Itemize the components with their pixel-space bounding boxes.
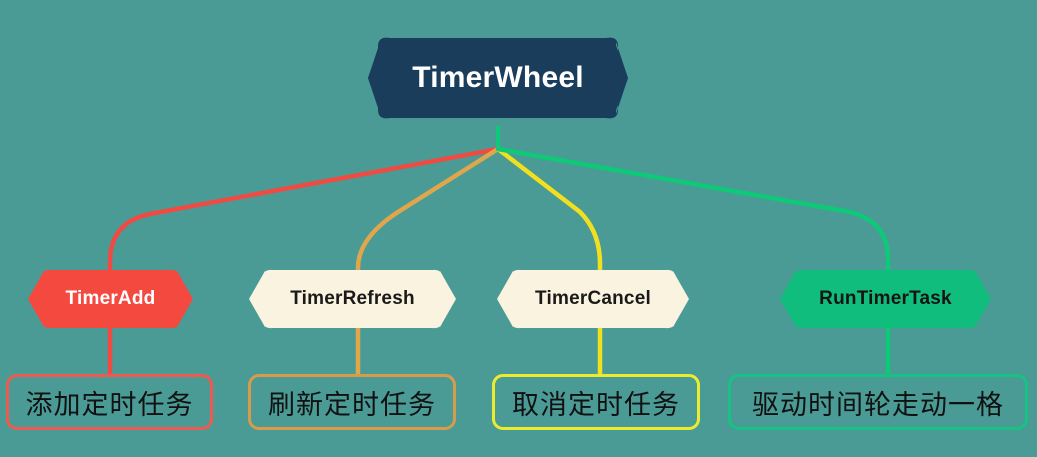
leaf-runtimertask-text: 驱动时间轮走动一格 [752,383,1004,422]
node-root[interactable]: TimerWheel [368,28,628,128]
leaf-runtimertask-description[interactable]: 驱动时间轮走动一格 [728,374,1028,430]
leaf-timeradd-text: 添加定时任务 [26,383,194,422]
leaf-timercancel-description[interactable]: 取消定时任务 [492,374,700,430]
timercancel-label: TimerCancel [497,264,689,334]
connector-to-timerrefresh [358,149,498,374]
leaf-timercancel-text: 取消定时任务 [512,383,680,422]
root-label: TimerWheel [368,28,628,128]
runtimertask-label: RunTimerTask [780,264,991,334]
node-timercancel[interactable]: TimerCancel [497,264,689,334]
leaf-timerrefresh-text: 刷新定时任务 [268,383,436,422]
leaf-timeradd-description[interactable]: 添加定时任务 [6,374,213,430]
node-timerrefresh[interactable]: TimerRefresh [249,264,456,334]
connector-to-timeradd [110,149,498,374]
timeradd-label: TimerAdd [28,264,193,334]
connector-to-runtimertask [498,149,888,374]
leaf-timerrefresh-description[interactable]: 刷新定时任务 [248,374,456,430]
node-runtimertask[interactable]: RunTimerTask [780,264,991,334]
connector-to-timercancel [498,149,600,374]
node-timeradd[interactable]: TimerAdd [28,264,193,334]
timerrefresh-label: TimerRefresh [249,264,456,334]
diagram-canvas: TimerWheel TimerAdd TimerRefresh TimerCa… [0,0,1037,457]
